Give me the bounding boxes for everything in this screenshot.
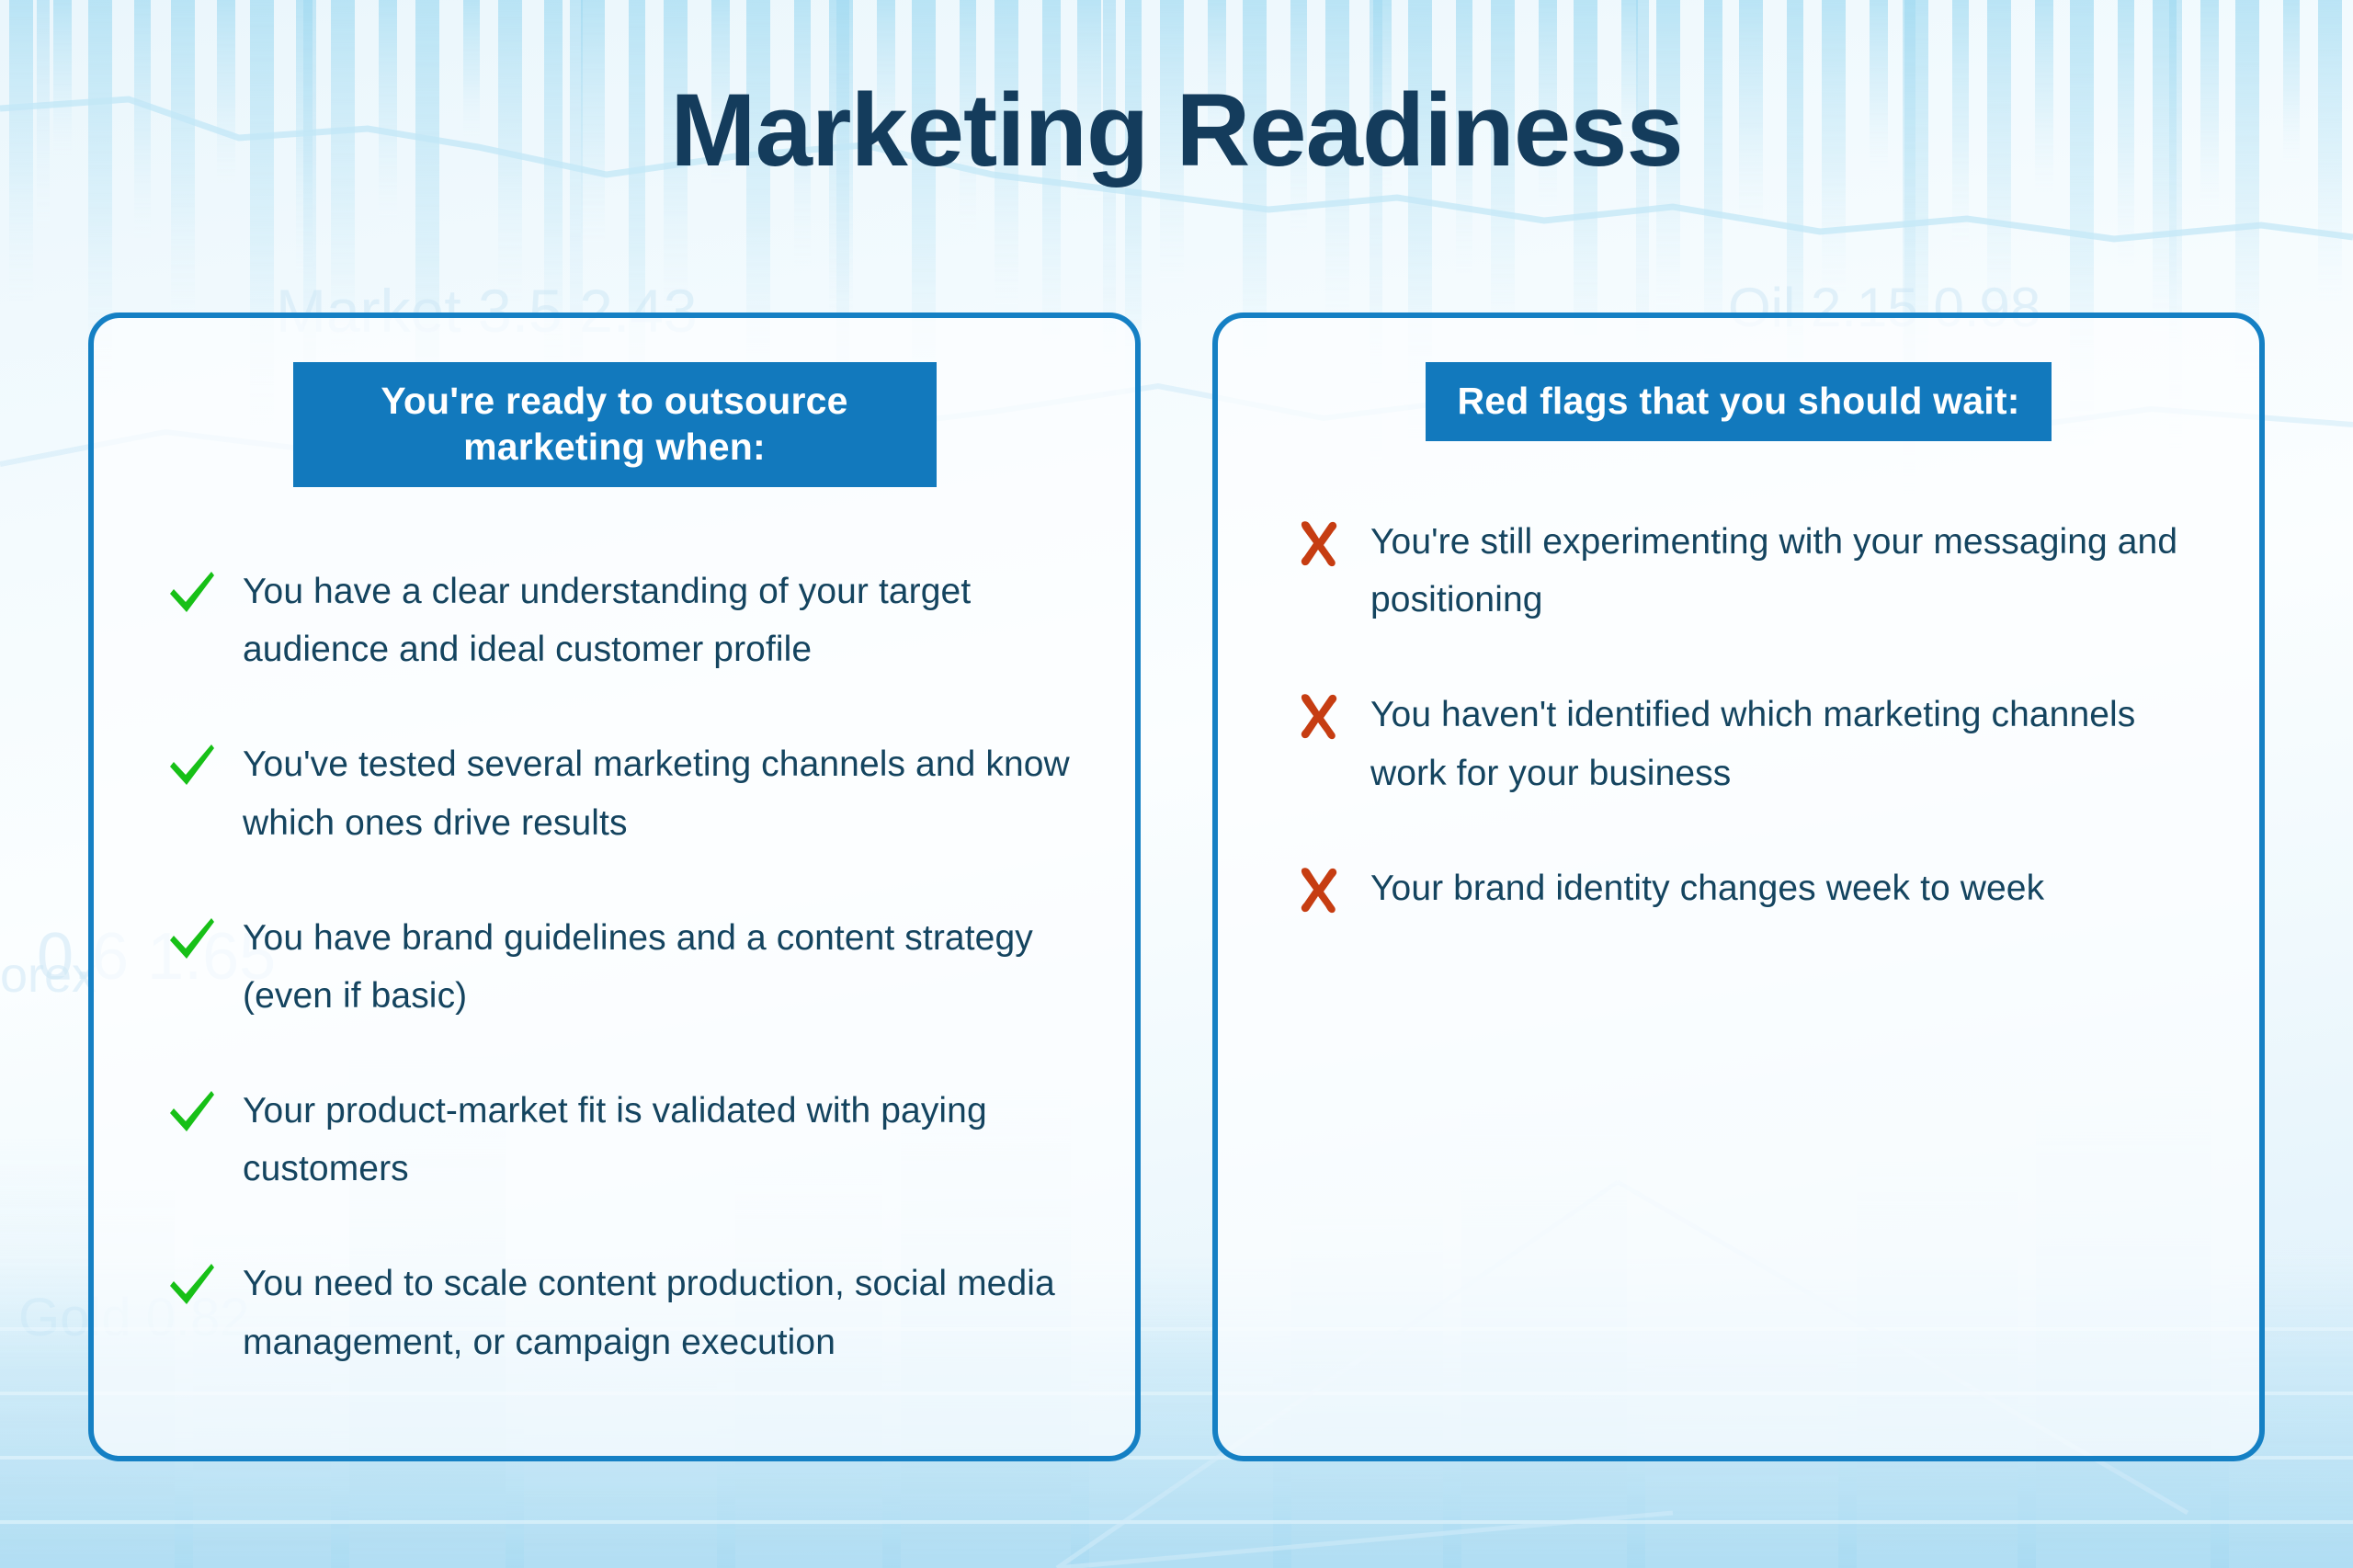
checklist-ready: You have a clear understanding of your t…	[145, 562, 1084, 1371]
check-icon	[165, 913, 217, 966]
cross-icon	[1293, 517, 1345, 570]
checklist-red-flags: You're still experimenting with your mes…	[1269, 513, 2208, 917]
check-icon	[165, 1258, 217, 1312]
background-ticker-text-5: orex	[0, 947, 97, 1004]
card-header-red-flags: Red flags that you should wait:	[1426, 362, 2051, 441]
comparison-cards: You're ready to outsource marketing when…	[88, 312, 2265, 1461]
list-item-label: You need to scale content production, so…	[243, 1255, 1080, 1370]
list-item: Your brand identity changes week to week	[1293, 859, 2204, 917]
list-item-label: You're still experimenting with your mes…	[1370, 513, 2204, 629]
list-item: Your product-market fit is validated wit…	[165, 1082, 1080, 1198]
page-title: Marketing Readiness	[0, 75, 2353, 187]
list-item-label: You have brand guidelines and a content …	[243, 909, 1080, 1025]
list-item: You've tested several marketing channels…	[165, 735, 1080, 851]
list-item-label: You haven't identified which marketing c…	[1370, 686, 2204, 801]
card-header-ready-to-outsource: You're ready to outsource marketing when…	[293, 362, 937, 487]
card-ready-to-outsource: You're ready to outsource marketing when…	[88, 312, 1141, 1461]
list-item: You have brand guidelines and a content …	[165, 909, 1080, 1025]
card-header-wrap-right: Red flags that you should wait:	[1269, 362, 2208, 441]
check-icon	[165, 1085, 217, 1139]
check-icon	[165, 566, 217, 619]
card-header-wrap-left: You're ready to outsource marketing when…	[145, 362, 1084, 487]
list-item: You're still experimenting with your mes…	[1293, 513, 2204, 629]
list-item-label: You have a clear understanding of your t…	[243, 562, 1080, 678]
cross-icon	[1293, 863, 1345, 916]
list-item: You haven't identified which marketing c…	[1293, 686, 2204, 801]
list-item: You need to scale content production, so…	[165, 1255, 1080, 1370]
list-item-label: Your brand identity changes week to week	[1370, 859, 2044, 917]
check-icon	[165, 739, 217, 792]
card-red-flags: Red flags that you should wait: You're s…	[1212, 312, 2265, 1461]
list-item: You have a clear understanding of your t…	[165, 562, 1080, 678]
list-item-label: You've tested several marketing channels…	[243, 735, 1080, 851]
list-item-label: Your product-market fit is validated wit…	[243, 1082, 1080, 1198]
cross-icon	[1293, 689, 1345, 743]
